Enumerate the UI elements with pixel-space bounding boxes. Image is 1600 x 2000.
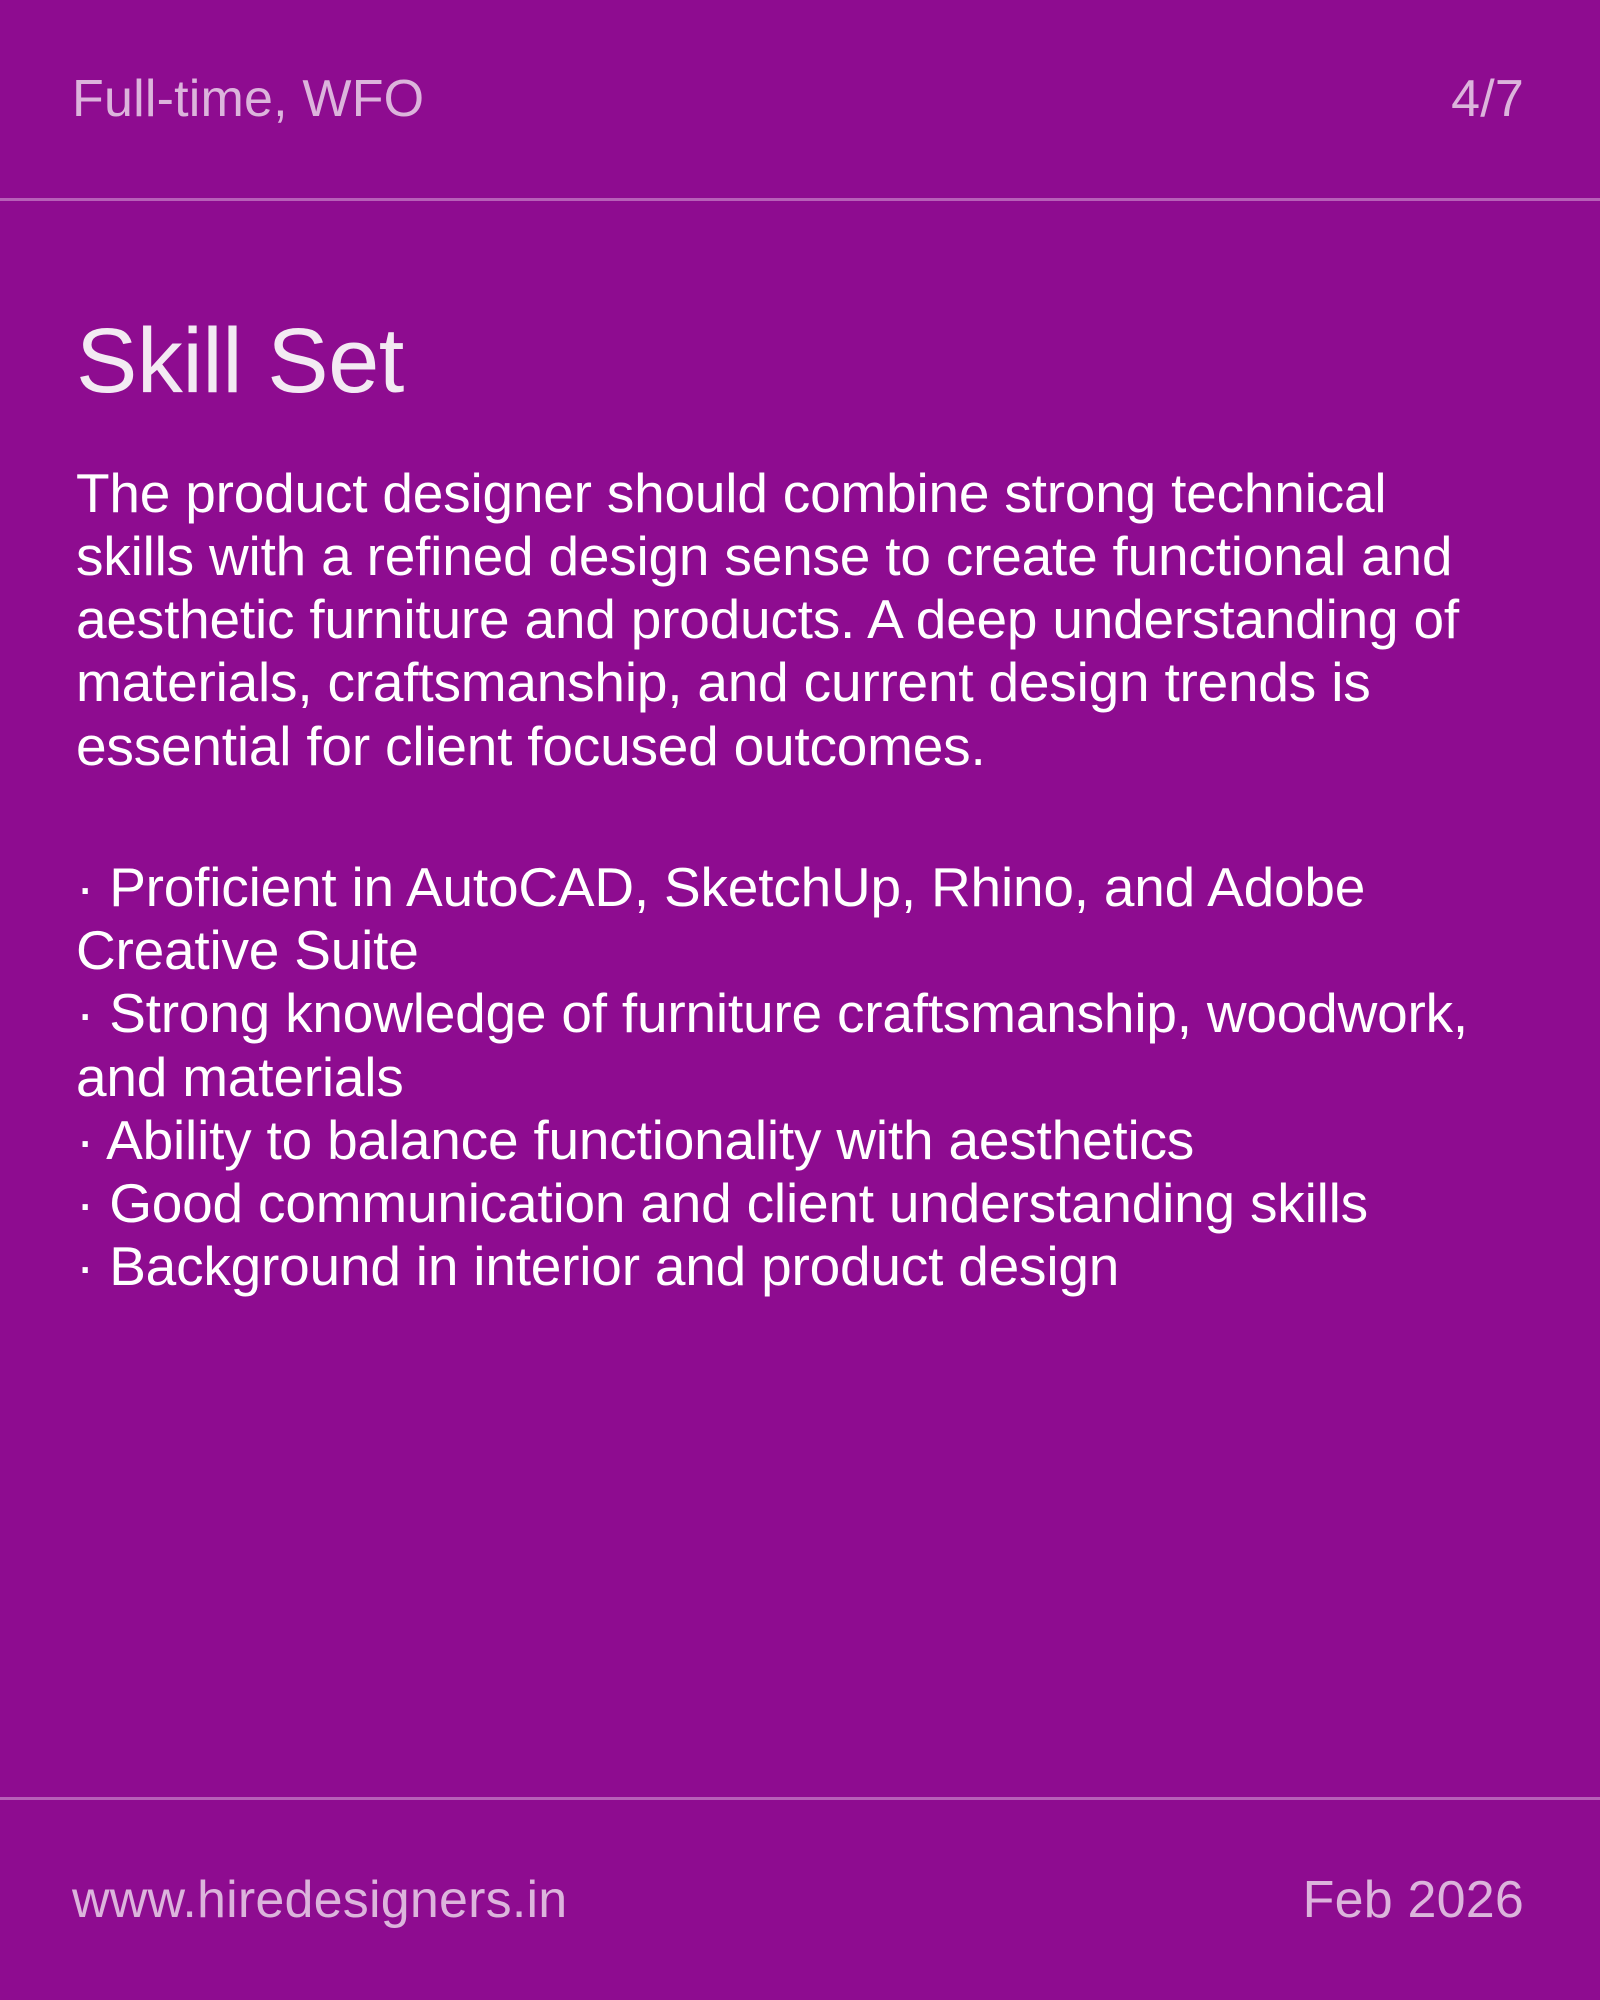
- slide-footer: www.hiredesigners.in Feb 2026: [0, 1800, 1600, 2000]
- page-indicator: 4/7: [1451, 73, 1524, 125]
- date-label: Feb 2026: [1303, 1874, 1524, 1926]
- skill-bullet-list: · Proficient in AutoCAD, SketchUp, Rhino…: [76, 856, 1524, 1299]
- list-item: · Ability to balance functionality with …: [76, 1109, 1524, 1172]
- page-title: Skill Set: [76, 313, 1524, 410]
- employment-type-label: Full-time, WFO: [72, 73, 424, 125]
- list-item: · Background in interior and product des…: [76, 1235, 1524, 1298]
- list-item: · Strong knowledge of furniture craftsma…: [76, 982, 1524, 1109]
- list-item: · Good communication and client understa…: [76, 1172, 1524, 1235]
- slide-header: Full-time, WFO 4/7: [0, 0, 1600, 198]
- slide-body: Skill Set The product designer should co…: [0, 201, 1600, 1797]
- skill-set-description: The product designer should combine stro…: [76, 462, 1476, 778]
- slide-container: Full-time, WFO 4/7 Skill Set The product…: [0, 0, 1600, 2000]
- paragraph-list-spacer: [76, 778, 1524, 856]
- list-item: · Proficient in AutoCAD, SketchUp, Rhino…: [76, 856, 1524, 983]
- website-url[interactable]: www.hiredesigners.in: [72, 1874, 567, 1926]
